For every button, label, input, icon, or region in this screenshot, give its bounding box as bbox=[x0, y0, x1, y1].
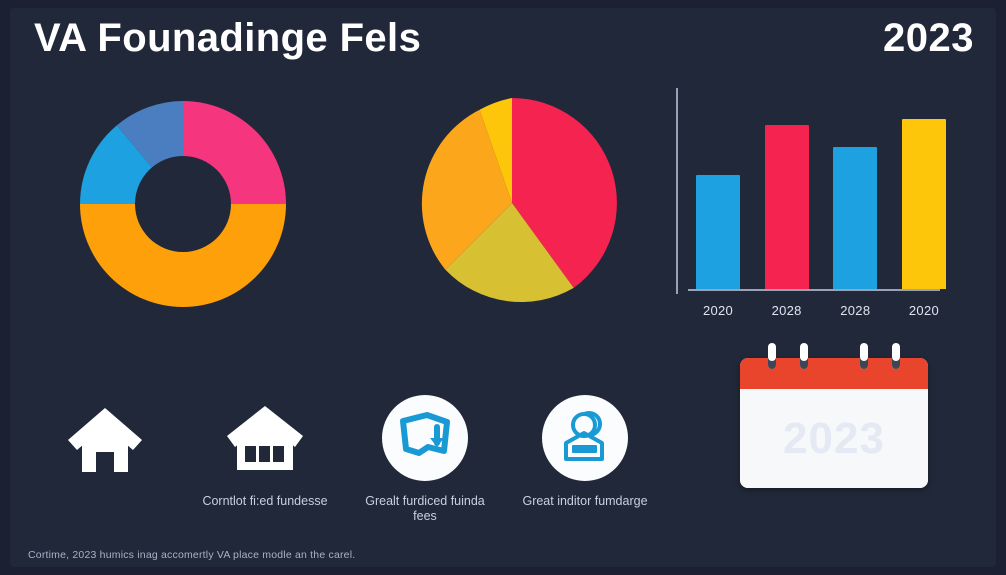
page-title: VA Founadinge Fels bbox=[34, 16, 421, 61]
pie-chart bbox=[400, 91, 624, 315]
icon-caption: Corntlot fi:ed fundesse bbox=[202, 494, 327, 509]
icon-circle bbox=[542, 395, 628, 481]
icon-row: Corntlot fi:ed fundesse Grealt furdiced … bbox=[30, 392, 660, 542]
calendar-rings bbox=[740, 343, 928, 371]
person-badge-icon bbox=[558, 411, 612, 465]
bar-tick-label: 2028 bbox=[765, 303, 809, 318]
bar-2[interactable] bbox=[833, 147, 877, 289]
icon-item-bank[interactable]: Corntlot fi:ed fundesse bbox=[190, 392, 340, 542]
calendar-ring-icon bbox=[892, 343, 900, 369]
calendar-ring-icon bbox=[860, 343, 868, 369]
icon-caption: Grealt furdiced fuinda fees bbox=[360, 494, 490, 524]
icon-item-document[interactable]: Grealt furdiced fuinda fees bbox=[350, 392, 500, 542]
infographic-canvas: VA Founadinge Fels 2023 bbox=[0, 0, 1006, 575]
calendar-year: 2023 bbox=[783, 414, 885, 464]
icon-caption: Great inditor fumdarge bbox=[522, 494, 647, 509]
document-download-icon bbox=[397, 411, 453, 465]
donut-hole bbox=[135, 156, 231, 252]
calendar-body: 2023 bbox=[740, 389, 928, 488]
bar-tick-label: 2020 bbox=[902, 303, 946, 318]
icon-item-house[interactable] bbox=[30, 392, 180, 542]
donut-chart bbox=[72, 93, 294, 315]
bar-column bbox=[833, 114, 877, 289]
person-badge-icon-wrap bbox=[542, 392, 628, 484]
calendar-ring-icon bbox=[800, 343, 808, 369]
bar-0[interactable] bbox=[696, 175, 740, 289]
bar-tick-label: 2028 bbox=[833, 303, 877, 318]
bar-column bbox=[696, 114, 740, 289]
pie-chart-svg bbox=[400, 91, 624, 315]
bar-3[interactable] bbox=[902, 119, 946, 289]
house-icon bbox=[62, 402, 148, 474]
bar-chart-x-axis bbox=[688, 289, 940, 291]
header-year: 2023 bbox=[883, 16, 974, 61]
bar-tick-label: 2020 bbox=[696, 303, 740, 318]
bar-1[interactable] bbox=[765, 125, 809, 290]
calendar-widget: 2023 bbox=[740, 358, 928, 488]
calendar-ring-icon bbox=[768, 343, 776, 369]
bank-building-icon-wrap bbox=[222, 392, 308, 484]
icon-circle bbox=[382, 395, 468, 481]
bar-column bbox=[765, 114, 809, 289]
bar-chart-y-axis bbox=[676, 88, 678, 294]
icon-item-person[interactable]: Great inditor fumdarge bbox=[510, 392, 660, 542]
bar-chart-x-tick-labels: 2020 2028 2028 2020 bbox=[696, 303, 946, 318]
house-icon-wrap bbox=[62, 392, 148, 484]
bank-building-icon bbox=[222, 402, 308, 474]
bar-chart-bars bbox=[696, 114, 946, 289]
footer-note: Cortime, 2023 humics inag accomertly VA … bbox=[28, 549, 355, 561]
document-download-icon-wrap bbox=[382, 392, 468, 484]
donut-chart-svg bbox=[72, 93, 294, 315]
bar-chart: 2020 2028 2028 2020 bbox=[666, 86, 946, 326]
bar-column bbox=[902, 114, 946, 289]
